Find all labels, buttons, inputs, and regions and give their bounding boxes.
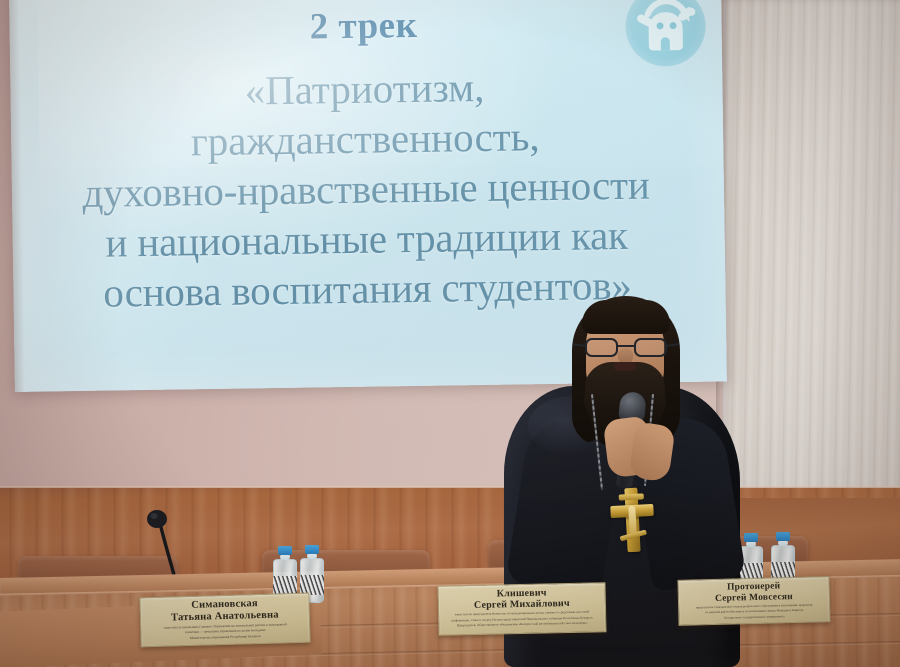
orthodox-pectoral-cross-icon bbox=[607, 487, 656, 553]
right-lens bbox=[634, 338, 667, 357]
nameplate-klishevich: Клишевич Сергей Михайлович заместитель п… bbox=[437, 582, 606, 636]
nameplate-movsesyan: Протоиерей Сергей Мовсесян председатель … bbox=[677, 576, 830, 626]
nameplate-title-line: Председатель Общественного объединения «… bbox=[441, 622, 603, 629]
bottle-cap bbox=[776, 532, 790, 541]
bottle-cap bbox=[305, 545, 319, 554]
nameplate-simanovskaya: Симановская Татьяна Анатольевна заместит… bbox=[139, 593, 310, 648]
cross-corpus bbox=[628, 506, 636, 534]
eyeglasses-icon bbox=[584, 338, 668, 358]
cross-upper-beam bbox=[619, 493, 644, 500]
left-lens bbox=[585, 338, 618, 357]
logo-right-eye bbox=[670, 22, 677, 29]
logo-figure-body bbox=[648, 12, 683, 51]
slide-title: 2 трек bbox=[23, 0, 704, 53]
bottle-cap bbox=[278, 546, 292, 555]
conference-photo-scene: 2 трек «Патриотизм, гражданственность, д… bbox=[0, 0, 900, 667]
waving-mascot-logo-icon bbox=[625, 0, 706, 67]
logo-left-eye bbox=[657, 22, 664, 29]
glasses-bridge bbox=[618, 345, 634, 347]
slide-body: «Патриотизм, гражданственность, духовно-… bbox=[24, 59, 708, 319]
nameplate-title-line: Белорусского государственного университе… bbox=[681, 614, 827, 621]
hair-fringe bbox=[582, 300, 670, 334]
mouth bbox=[614, 362, 636, 371]
